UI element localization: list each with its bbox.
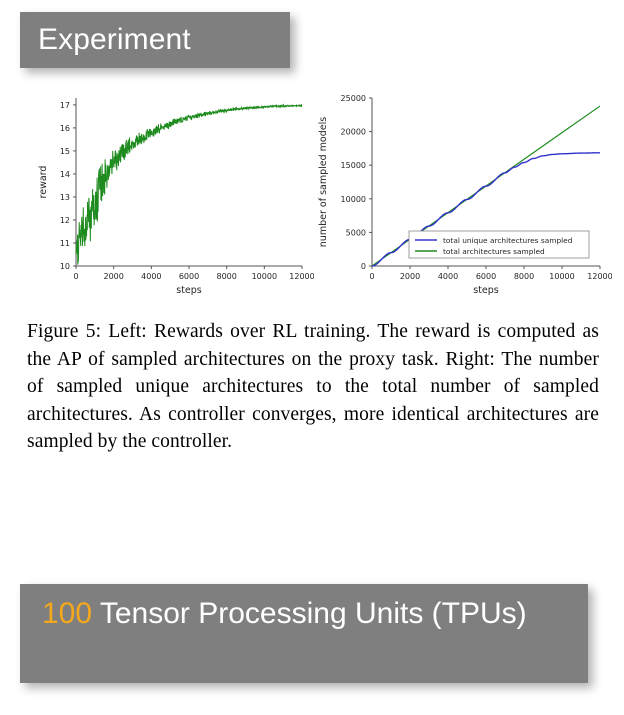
slide-title-text: Experiment xyxy=(38,23,191,57)
svg-text:12000: 12000 xyxy=(289,272,314,281)
left-chart-y-ticks: 1011121314151617 xyxy=(60,101,76,271)
footer-text: Tensor Processing Units (TPUs) xyxy=(92,597,527,630)
chart-sampled-models-vs-steps: 0500010000150002000025000 02000400060008… xyxy=(312,88,612,303)
slide-root: Experiment 1011121314151617 020004000600… xyxy=(0,0,624,715)
svg-text:2000: 2000 xyxy=(103,272,123,281)
reward-curve xyxy=(76,105,302,265)
svg-text:12000: 12000 xyxy=(587,272,612,281)
svg-text:13: 13 xyxy=(60,193,70,202)
svg-text:4000: 4000 xyxy=(141,272,161,281)
right-chart-legend: total unique architectures sampled total… xyxy=(409,231,589,258)
svg-text:8000: 8000 xyxy=(216,272,236,281)
svg-text:11: 11 xyxy=(60,239,70,248)
svg-text:12: 12 xyxy=(60,216,70,225)
svg-text:6000: 6000 xyxy=(179,272,199,281)
left-chart-x-ticks: 020004000600080001000012000 xyxy=(73,266,314,281)
svg-text:5000: 5000 xyxy=(346,228,366,237)
footer-number: 100 xyxy=(42,597,92,630)
figure-caption: Figure 5: Left: Rewards over RL training… xyxy=(27,318,599,456)
svg-text:0: 0 xyxy=(369,272,374,281)
left-chart-y-axis-label: reward xyxy=(38,166,49,199)
right-chart-y-axis-label: number of sampled models xyxy=(318,117,329,247)
svg-text:10000: 10000 xyxy=(252,272,277,281)
svg-text:4000: 4000 xyxy=(438,272,458,281)
svg-text:2000: 2000 xyxy=(400,272,420,281)
svg-text:6000: 6000 xyxy=(476,272,496,281)
svg-text:16: 16 xyxy=(60,124,70,133)
svg-text:10000: 10000 xyxy=(341,195,366,204)
svg-text:15000: 15000 xyxy=(341,161,366,170)
svg-text:8000: 8000 xyxy=(514,272,534,281)
chart-rewards-over-rl-training: 1011121314151617 02000400060008000100001… xyxy=(34,88,314,303)
svg-text:15: 15 xyxy=(60,147,70,156)
chart-left-svg: 1011121314151617 02000400060008000100001… xyxy=(34,88,314,303)
legend-label-unique: total unique architectures sampled xyxy=(443,236,573,245)
svg-text:0: 0 xyxy=(361,262,366,271)
right-chart-x-axis-label: steps xyxy=(473,285,499,296)
left-chart-axes xyxy=(76,98,302,266)
svg-text:25000: 25000 xyxy=(341,94,366,103)
slide-title-banner: Experiment xyxy=(20,12,290,68)
svg-text:20000: 20000 xyxy=(341,128,366,137)
chart-right-svg: 0500010000150002000025000 02000400060008… xyxy=(312,88,612,303)
figure-5: 1011121314151617 02000400060008000100001… xyxy=(0,88,624,303)
right-chart-y-ticks: 0500010000150002000025000 xyxy=(341,94,372,271)
svg-text:17: 17 xyxy=(60,101,70,110)
svg-text:10: 10 xyxy=(60,262,70,271)
svg-text:14: 14 xyxy=(60,170,70,179)
footer-banner: 100 Tensor Processing Units (TPUs) xyxy=(20,584,588,683)
svg-text:0: 0 xyxy=(73,272,78,281)
left-chart-x-axis-label: steps xyxy=(176,285,202,296)
svg-text:10000: 10000 xyxy=(549,272,574,281)
legend-label-total: total architectures sampled xyxy=(443,247,545,256)
right-chart-x-ticks: 020004000600080001000012000 xyxy=(369,266,612,281)
